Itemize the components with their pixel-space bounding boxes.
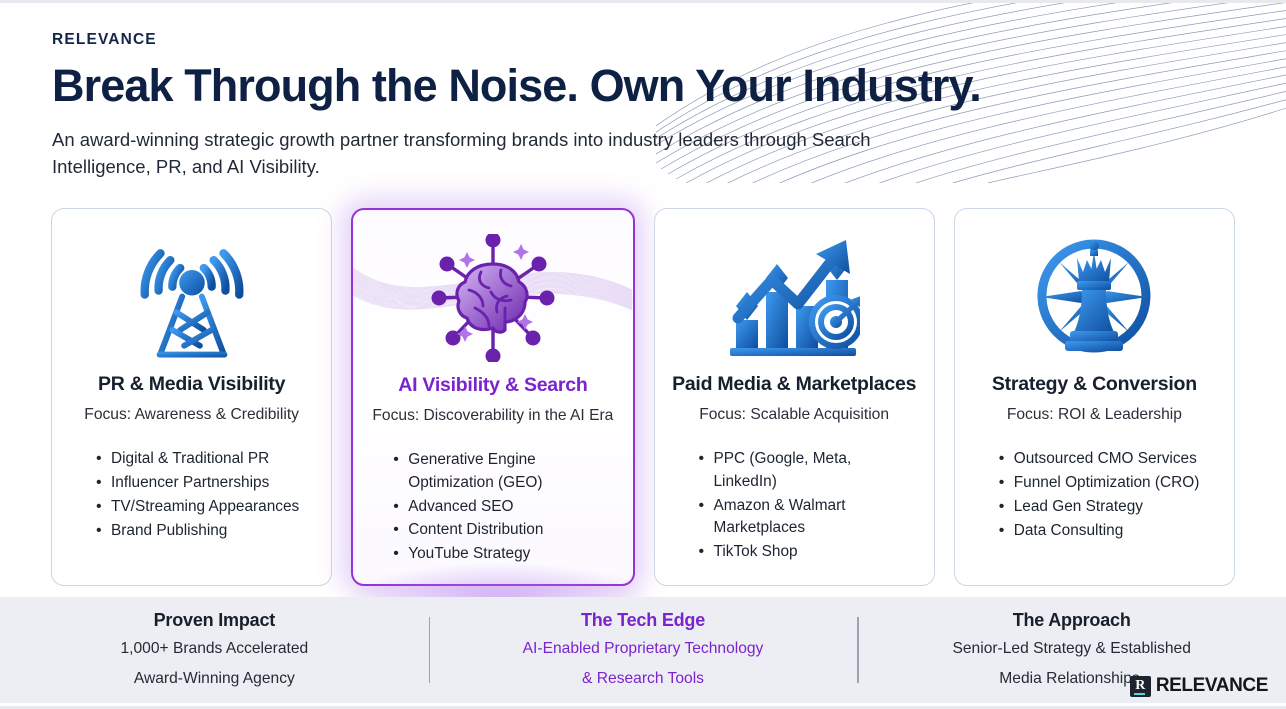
- list-item: Influencer Partnerships: [96, 472, 311, 494]
- page-subtitle: An award-winning strategic growth partne…: [52, 127, 952, 181]
- list-item: Generative Engine Optimization (GEO): [393, 449, 612, 494]
- card-title: Paid Media & Marketplaces: [672, 373, 916, 396]
- service-card-1[interactable]: PR & Media Visibility Focus: Awareness &…: [51, 208, 332, 586]
- list-item: TV/Streaming Appearances: [96, 496, 311, 518]
- card-feature-list: Outsourced CMO ServicesFunnel Optimizati…: [967, 448, 1222, 543]
- broadcast-tower-icon: [64, 227, 319, 367]
- growth-chart-target-icon: [667, 227, 922, 367]
- list-item: Lead Gen Strategy: [999, 496, 1214, 518]
- card-focus-line: Focus: ROI & Leadership: [1007, 405, 1182, 424]
- footer-line: Senior-Led Strategy & Established: [875, 638, 1268, 660]
- list-item: PPC (Google, Meta, LinkedIn): [699, 448, 914, 493]
- list-item: Outsourced CMO Services: [999, 448, 1214, 470]
- header: RELEVANCE Break Through the Noise. Own Y…: [0, 3, 1286, 180]
- broadcast-tower-icon: [133, 235, 251, 360]
- footer-title: The Approach: [875, 610, 1268, 631]
- card-feature-list: PPC (Google, Meta, LinkedIn)Amazon & Wal…: [667, 448, 922, 564]
- footer-bar: Proven Impact 1,000+ Brands Accelerated …: [0, 597, 1286, 703]
- card-title: Strategy & Conversion: [992, 373, 1197, 396]
- service-card-3[interactable]: Paid Media & Marketplaces Focus: Scalabl…: [654, 208, 935, 586]
- footer-title: The Tech Edge: [447, 610, 840, 631]
- card-title: PR & Media Visibility: [98, 373, 285, 396]
- footer-title: Proven Impact: [18, 610, 411, 631]
- list-item: Brand Publishing: [96, 520, 311, 542]
- ai-brain-network-icon: [429, 234, 557, 362]
- footer-column-proven-impact: Proven Impact 1,000+ Brands Accelerated …: [0, 610, 429, 689]
- list-item: Content Distribution: [393, 519, 612, 541]
- service-card-4[interactable]: Strategy & Conversion Focus: ROI & Leade…: [954, 208, 1235, 586]
- card-feature-list: Generative Engine Optimization (GEO)Adva…: [365, 449, 620, 567]
- footer-column-tech-edge: The Tech Edge AI-Enabled Proprietary Tec…: [429, 610, 858, 689]
- brand-logo-mark: R: [1130, 676, 1151, 697]
- list-item: Data Consulting: [999, 520, 1214, 542]
- card-feature-list: Digital & Traditional PRInfluencer Partn…: [64, 448, 319, 543]
- chess-queen-compass-icon: [967, 227, 1222, 367]
- list-item: Digital & Traditional PR: [96, 448, 311, 470]
- brand-eyebrow: RELEVANCE: [52, 31, 1286, 49]
- card-title: AI Visibility & Search: [398, 374, 587, 397]
- list-item: Amazon & Walmart Marketplaces: [699, 495, 914, 540]
- footer-line: 1,000+ Brands Accelerated: [18, 638, 411, 660]
- footer-line: & Research Tools: [447, 668, 840, 690]
- card-focus-line: Focus: Scalable Acquisition: [699, 405, 889, 424]
- service-card-2[interactable]: AI Visibility & Search Focus: Discoverab…: [351, 208, 634, 586]
- card-focus-line: Focus: Awareness & Credibility: [84, 405, 299, 424]
- slide-canvas: RELEVANCE Break Through the Noise. Own Y…: [0, 0, 1286, 709]
- brand-logo: R RELEVANCE: [1130, 675, 1268, 697]
- footer-line: Award-Winning Agency: [18, 668, 411, 690]
- page-title: Break Through the Noise. Own Your Indust…: [52, 63, 1286, 110]
- growth-chart-target-icon: [728, 234, 860, 360]
- ai-brain-network-icon: [365, 228, 620, 368]
- service-cards-row: PR & Media Visibility Focus: Awareness &…: [51, 208, 1235, 586]
- chess-queen-compass-icon: [1029, 234, 1159, 360]
- card-focus-line: Focus: Discoverability in the AI Era: [372, 406, 613, 425]
- list-item: Funnel Optimization (CRO): [999, 472, 1214, 494]
- list-item: TikTok Shop: [699, 541, 914, 563]
- brand-logo-wordmark: RELEVANCE: [1156, 675, 1268, 697]
- footer-line: AI-Enabled Proprietary Technology: [447, 638, 840, 660]
- list-item: Advanced SEO: [393, 496, 612, 518]
